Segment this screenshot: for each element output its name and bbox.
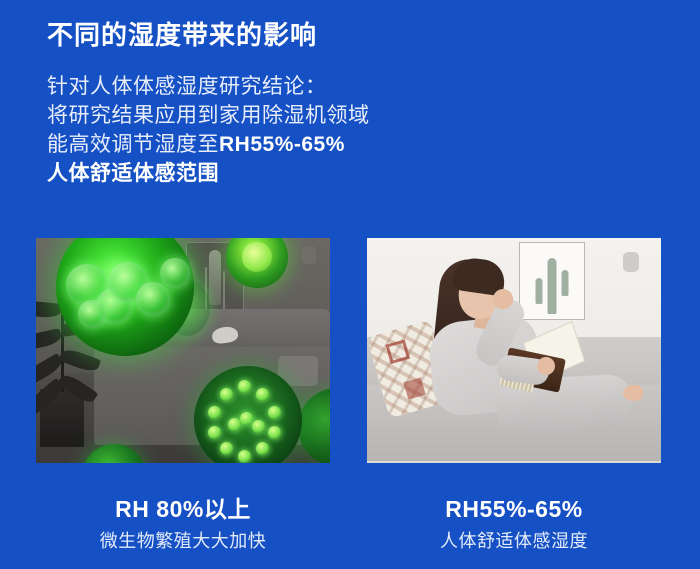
intro-line-3-text: 能高效调节湿度至 bbox=[47, 133, 219, 156]
microbe-bump bbox=[208, 426, 221, 439]
panel-comfort-humidity: RH55%-65% 人体舒适体感湿度 bbox=[367, 238, 661, 553]
microbe-cell bbox=[136, 282, 170, 316]
page-title: 不同的湿度带来的影响 bbox=[47, 18, 647, 52]
intro-paragraph: 针对人体体感湿度研究结论： 将研究结果应用到家用除湿机领域 能高效调节湿度至RH… bbox=[47, 52, 647, 188]
caption-title-high-humidity: RH 80%以上 bbox=[36, 495, 330, 523]
comparison-section: RH 80%以上 微生物繁殖大大加快 bbox=[0, 238, 700, 558]
hand-holding-book bbox=[537, 357, 555, 375]
plant-leaf bbox=[58, 346, 101, 374]
plant-leaf bbox=[36, 328, 63, 351]
foot bbox=[623, 385, 643, 401]
microbe-cell bbox=[160, 258, 190, 288]
intro-line-1: 针对人体体感湿度研究结论： bbox=[47, 72, 647, 101]
poster-root: 不同的湿度带来的影响 针对人体体感湿度研究结论： 将研究结果应用到家用除湿机领域… bbox=[0, 0, 700, 569]
intro-line-3-highlight: RH55%-65% bbox=[219, 133, 345, 156]
microbe-bump bbox=[238, 380, 251, 393]
microbe-bump bbox=[256, 388, 269, 401]
intro-line-2: 将研究结果应用到家用除湿机领域 bbox=[47, 101, 647, 130]
microbe-bump bbox=[268, 406, 281, 419]
intro-line-3: 能高效调节湿度至RH55%-65% bbox=[47, 130, 647, 159]
microbe-bump bbox=[208, 406, 221, 419]
woman-reading bbox=[401, 253, 631, 453]
microbe-bump bbox=[252, 420, 265, 433]
photo-comfort-humidity bbox=[367, 238, 661, 463]
microbe-bump bbox=[268, 426, 281, 439]
caption-sub-comfort-humidity: 人体舒适体感湿度 bbox=[367, 523, 661, 553]
microbe-bump bbox=[256, 442, 269, 455]
panel-high-humidity: RH 80%以上 微生物繁殖大大加快 bbox=[36, 238, 330, 553]
microbe-bump bbox=[228, 418, 241, 431]
intro-line-4: 人体舒适体感范围 bbox=[47, 159, 647, 188]
microbe-bump bbox=[220, 388, 233, 401]
wall-thermostat-dark bbox=[302, 246, 316, 264]
caption-sub-high-humidity: 微生物繁殖大大加快 bbox=[36, 523, 330, 553]
plant-leaf bbox=[36, 378, 66, 415]
photo-high-humidity bbox=[36, 238, 330, 463]
microbe-lower bbox=[194, 366, 302, 463]
caption-comfort-humidity: RH55%-65% 人体舒适体感湿度 bbox=[367, 463, 661, 553]
microbe-bump bbox=[238, 450, 251, 463]
headline-block: 不同的湿度带来的影响 针对人体体感湿度研究结论： 将研究结果应用到家用除湿机领域… bbox=[47, 18, 647, 188]
microbe-bump bbox=[220, 442, 233, 455]
caption-title-comfort-humidity: RH55%-65% bbox=[367, 495, 661, 523]
microbe-bump bbox=[240, 412, 253, 425]
caption-high-humidity: RH 80%以上 微生物繁殖大大加快 bbox=[36, 463, 330, 553]
microbe-cell bbox=[78, 300, 106, 328]
